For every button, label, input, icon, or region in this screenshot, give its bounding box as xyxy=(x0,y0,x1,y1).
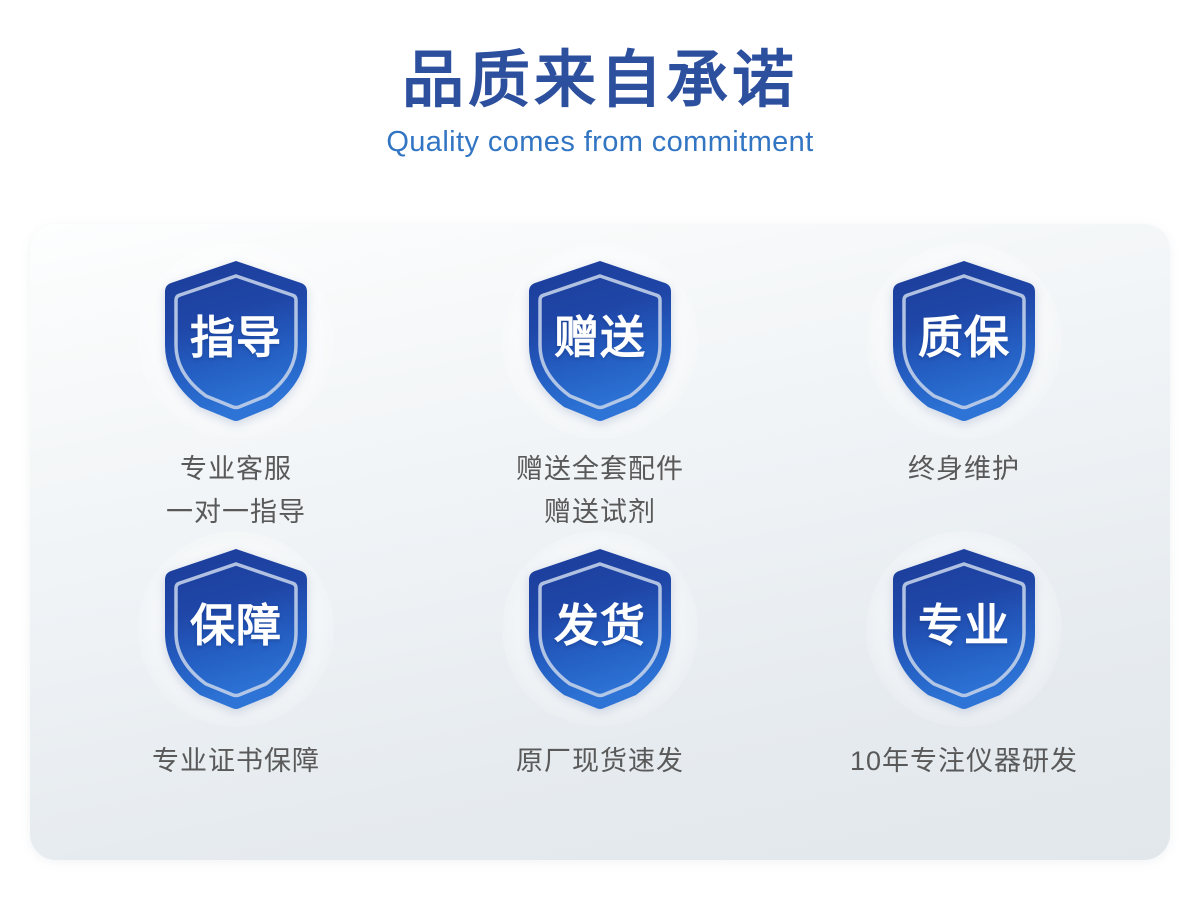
shield-icon xyxy=(161,259,311,423)
feature-item-zengsong: 赠送 赠送全套配件 赠送试剂 xyxy=(418,258,782,546)
feature-caption: 专业证书保障 xyxy=(152,740,320,783)
shield-icon xyxy=(525,547,675,711)
feature-caption: 原厂现货速发 xyxy=(516,740,684,783)
shield-badge: 保障 xyxy=(155,546,317,712)
shield-icon xyxy=(525,259,675,423)
feature-item-zhuanye: 专业 10年专注仪器研发 xyxy=(782,546,1146,834)
page-title: 品质来自承诺 xyxy=(0,48,1200,113)
feature-item-baozhang: 保障 专业证书保障 xyxy=(54,546,418,834)
shield-icon xyxy=(889,259,1039,423)
feature-item-zhidao: 指导 专业客服 一对一指导 xyxy=(54,258,418,546)
shield-badge: 专业 xyxy=(883,546,1045,712)
features-card: 指导 专业客服 一对一指导 xyxy=(30,224,1170,860)
shield-icon xyxy=(889,547,1039,711)
feature-item-zhibao: 质保 终身维护 xyxy=(782,258,1146,546)
page-subtitle: Quality comes from commitment xyxy=(0,127,1200,159)
page-header: 品质来自承诺 Quality comes from commitment xyxy=(0,0,1200,159)
feature-caption: 终身维护 xyxy=(908,448,1020,491)
features-grid: 指导 专业客服 一对一指导 xyxy=(30,224,1170,860)
shield-badge: 指导 xyxy=(155,258,317,424)
promo-page: 品质来自承诺 Quality comes from commitment xyxy=(0,0,1200,920)
shield-badge: 质保 xyxy=(883,258,1045,424)
feature-caption: 专业客服 一对一指导 xyxy=(166,448,306,533)
feature-caption: 赠送全套配件 赠送试剂 xyxy=(516,448,684,533)
feature-caption: 10年专注仪器研发 xyxy=(850,740,1078,783)
shield-badge: 赠送 xyxy=(519,258,681,424)
shield-icon xyxy=(161,547,311,711)
feature-item-fahuo: 发货 原厂现货速发 xyxy=(418,546,782,834)
shield-badge: 发货 xyxy=(519,546,681,712)
